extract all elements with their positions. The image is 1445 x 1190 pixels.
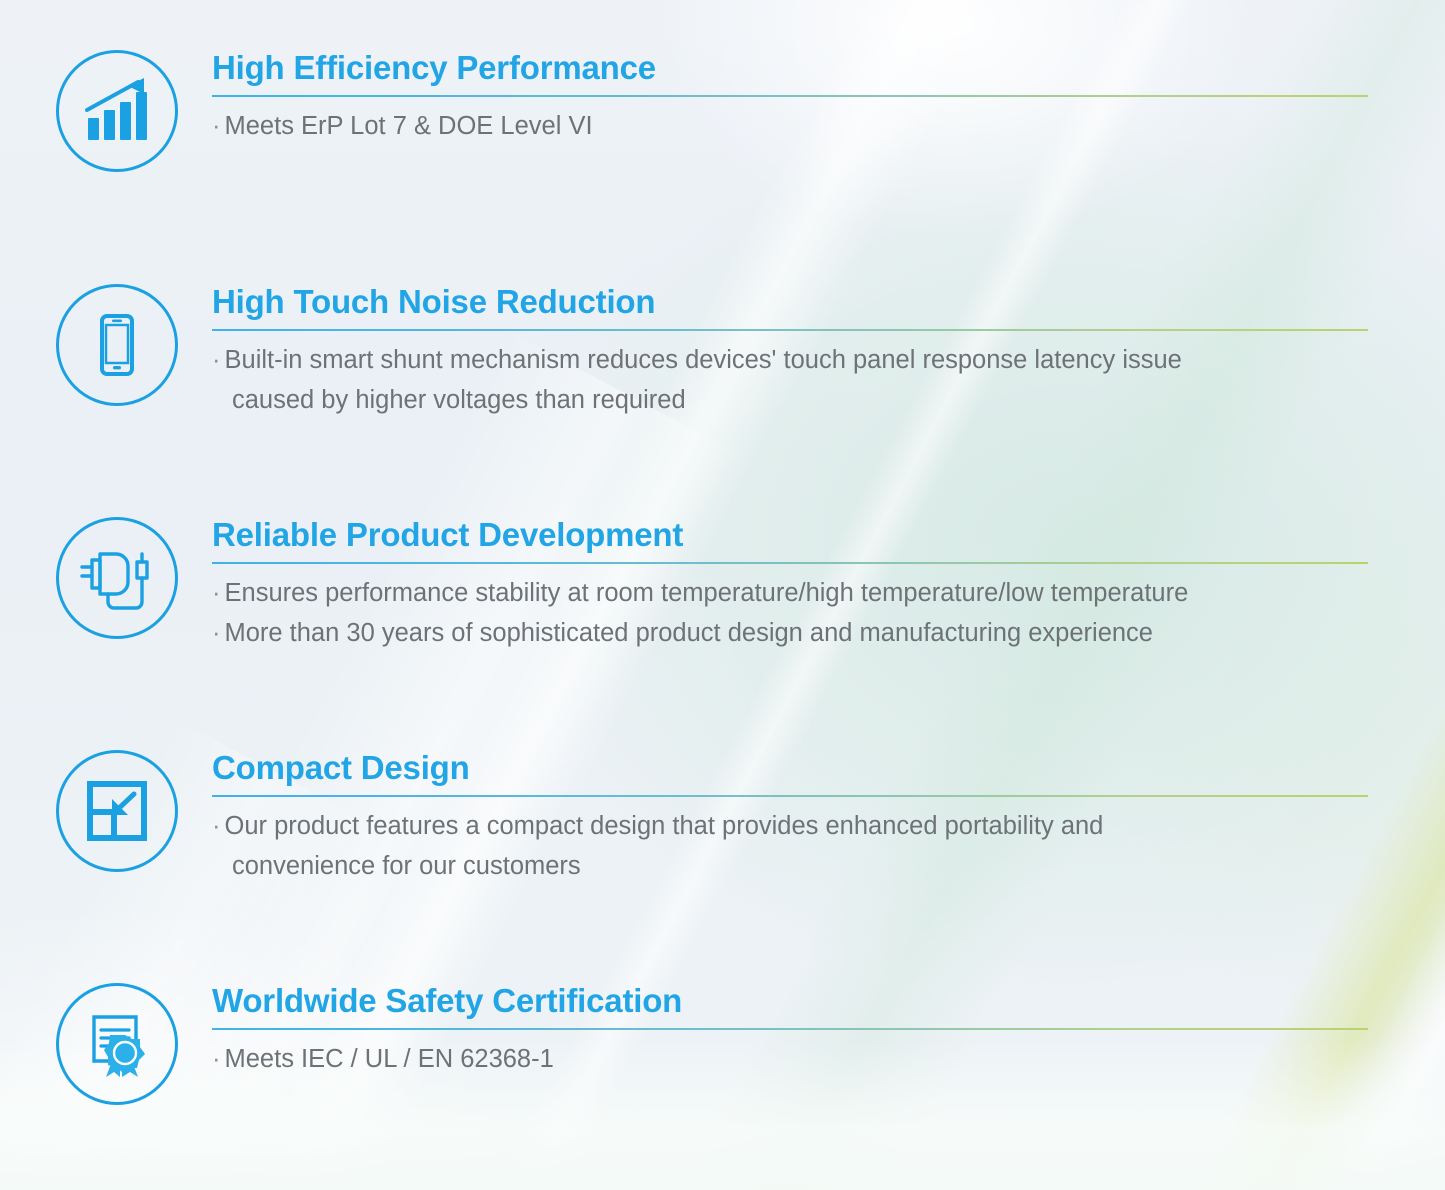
compact-resize-icon xyxy=(56,750,178,872)
smartphone-icon xyxy=(56,284,178,406)
bullet-glyph: · xyxy=(212,346,221,374)
feature-body: Reliable Product Development ·Ensures pe… xyxy=(212,517,1372,653)
feature-line: ·More than 30 years of sophisticated pro… xyxy=(212,614,1372,654)
feature-icon-slot xyxy=(56,284,178,406)
feature-icon-slot xyxy=(56,50,178,172)
feature-icon-slot xyxy=(56,750,178,872)
feature-line: caused by higher voltages than required xyxy=(212,381,1372,421)
feature-title: Worldwide Safety Certification xyxy=(212,983,1372,1019)
feature-line-text: More than 30 years of sophisticated prod… xyxy=(225,619,1153,647)
feature-description: ·Meets IEC / UL / EN 62368-1 xyxy=(212,1040,1372,1080)
feature-line-text: Our product features a compact design th… xyxy=(225,812,1104,840)
feature-description: ·Meets ErP Lot 7 & DOE Level VI xyxy=(212,107,1372,147)
feature-divider xyxy=(212,329,1368,331)
certificate-seal-icon xyxy=(56,983,178,1105)
feature-line: ·Meets ErP Lot 7 & DOE Level VI xyxy=(212,107,1372,147)
feature-line-text: convenience for our customers xyxy=(232,852,581,880)
feature-description: ·Our product features a compact design t… xyxy=(212,807,1372,886)
feature-line-text: Meets ErP Lot 7 & DOE Level VI xyxy=(225,112,593,140)
bullet-glyph: · xyxy=(212,1045,221,1073)
feature-body: Worldwide Safety Certification ·Meets IE… xyxy=(212,983,1372,1080)
bullet-glyph: · xyxy=(212,579,221,607)
feature-line-text: Meets IEC / UL / EN 62368-1 xyxy=(225,1045,554,1073)
feature-line: convenience for our customers xyxy=(212,847,1372,887)
power-adapter-icon xyxy=(56,517,178,639)
feature-line: ·Built-in smart shunt mechanism reduces … xyxy=(212,341,1372,381)
feature-icon-slot xyxy=(56,517,178,639)
feature-body: High Efficiency Performance ·Meets ErP L… xyxy=(212,50,1372,147)
feature-description: ·Ensures performance stability at room t… xyxy=(212,574,1372,653)
feature-description: ·Built-in smart shunt mechanism reduces … xyxy=(212,341,1372,420)
feature-line-text: Built-in smart shunt mechanism reduces d… xyxy=(225,346,1182,374)
bullet-glyph: · xyxy=(212,112,221,140)
feature-line-text: Ensures performance stability at room te… xyxy=(225,579,1189,607)
feature-line: ·Our product features a compact design t… xyxy=(212,807,1372,847)
feature-title: Compact Design xyxy=(212,750,1372,786)
feature-body: High Touch Noise Reduction ·Built-in sma… xyxy=(212,284,1372,420)
feature-line: ·Ensures performance stability at room t… xyxy=(212,574,1372,614)
feature-line: ·Meets IEC / UL / EN 62368-1 xyxy=(212,1040,1372,1080)
feature-divider xyxy=(212,795,1368,797)
feature-title: Reliable Product Development xyxy=(212,517,1372,553)
feature-title: High Efficiency Performance xyxy=(212,50,1372,86)
bullet-glyph: · xyxy=(212,619,221,647)
bullet-glyph: · xyxy=(212,812,221,840)
feature-divider xyxy=(212,95,1368,97)
feature-title: High Touch Noise Reduction xyxy=(212,284,1372,320)
feature-divider xyxy=(212,562,1368,564)
feature-line-text: caused by higher voltages than required xyxy=(232,386,686,414)
growth-bar-chart-icon xyxy=(56,50,178,172)
feature-icon-slot xyxy=(56,983,178,1105)
feature-list-page: High Efficiency Performance ·Meets ErP L… xyxy=(0,0,1445,1190)
feature-body: Compact Design ·Our product features a c… xyxy=(212,750,1372,886)
feature-divider xyxy=(212,1028,1368,1030)
